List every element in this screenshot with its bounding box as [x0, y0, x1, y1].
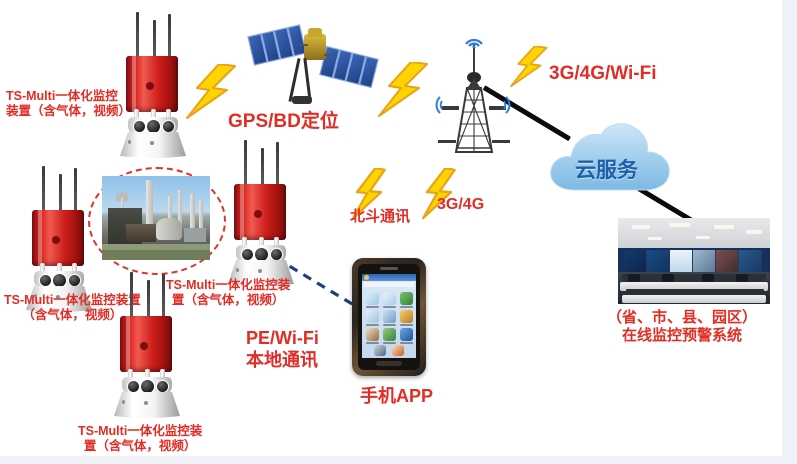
cloud-label: 云服务 — [575, 154, 638, 184]
satellite-node — [248, 8, 376, 108]
label-device-bottom: TS-Multi一体化监控装 置（含气体，视频） — [78, 424, 202, 455]
label-gps-bd: GPS/BD定位 — [228, 110, 339, 133]
monitoring-device-top — [106, 12, 198, 158]
label-phone-app: 手机APP — [360, 386, 433, 408]
wifi-signal-icon-top — [462, 28, 486, 48]
site-photo — [102, 176, 210, 260]
app-icon[interactable] — [374, 345, 386, 356]
label-device-top: TS-Multi一体化监控 装置（含气体，视频） — [6, 89, 131, 120]
mobile-app-node — [352, 258, 426, 380]
wifi-signal-icon-left — [426, 94, 444, 116]
app-icon[interactable] — [392, 345, 404, 356]
label-pe-wifi: PE/Wi-Fi 本地通讯 — [246, 328, 319, 372]
app-icon[interactable] — [400, 328, 413, 341]
monitoring-device-mid-left — [12, 166, 104, 312]
label-3g4g-wifi: 3G/4G/Wi-Fi — [549, 62, 657, 85]
cloud-service-node: 云服务 — [545, 118, 675, 200]
app-icon[interactable] — [366, 292, 379, 305]
label-beidou: 北斗通讯 — [350, 208, 410, 226]
diagram-canvas: 云服务 — [0, 0, 782, 456]
app-icon[interactable] — [400, 292, 413, 305]
phone-screen[interactable] — [362, 274, 416, 358]
wifi-signal-icon-right — [502, 94, 520, 116]
label-3g4g: 3G/4G — [437, 195, 484, 215]
label-control-center: （省、市、县、园区） 在线监控预警系统 — [607, 309, 757, 346]
app-icon[interactable] — [366, 328, 379, 341]
app-icon[interactable] — [400, 310, 413, 323]
monitoring-device-mid-right — [214, 140, 306, 286]
app-icon[interactable] — [383, 328, 396, 341]
monitoring-device-bottom — [100, 272, 192, 418]
app-icon[interactable] — [383, 292, 396, 305]
app-icon[interactable] — [366, 310, 379, 323]
control-room-photo — [618, 218, 770, 304]
cell-tower-node — [426, 22, 524, 154]
app-icon[interactable] — [383, 310, 396, 323]
